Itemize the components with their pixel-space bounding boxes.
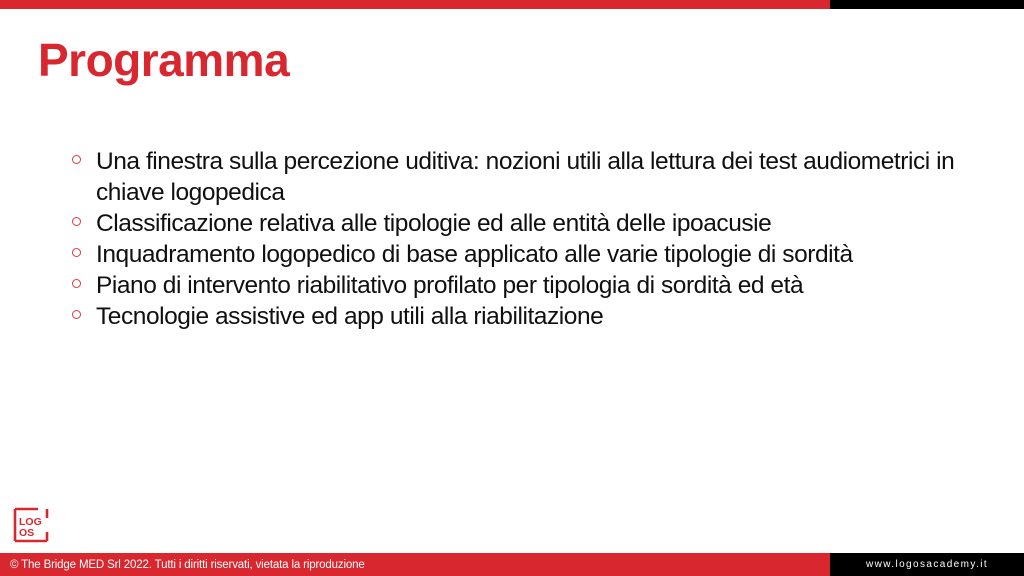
list-item-label: Tecnologie assistive ed app utili alla r… xyxy=(96,301,986,332)
list-item: Piano di intervento riabilitativo profil… xyxy=(72,270,992,301)
circle-outline-bullet-icon xyxy=(72,239,96,257)
circle-outline-bullet-icon xyxy=(72,146,96,164)
list-item-label: Piano di intervento riabilitativo profil… xyxy=(96,270,986,301)
top-accent-bar-black-segment xyxy=(830,0,1024,9)
presentation-slide: Programma Una finestra sulla percezione … xyxy=(0,0,1024,576)
footer-copyright-region: © The Bridge MED Srl 2022. Tutti i dirit… xyxy=(0,553,830,576)
list-item: Classificazione relativa alle tipologie … xyxy=(72,208,992,239)
list-item: Inquadramento logopedico di base applica… xyxy=(72,239,992,270)
footer-website-link[interactable]: www.logosacademy.it xyxy=(866,559,988,570)
circle-outline-bullet-icon xyxy=(72,270,96,288)
list-item: Tecnologie assistive ed app utili alla r… xyxy=(72,301,992,332)
footer-website-region: www.logosacademy.it xyxy=(830,553,1024,576)
list-item: Una finestra sulla percezione uditiva: n… xyxy=(72,146,992,208)
top-accent-bar-red-segment xyxy=(0,0,830,9)
logos-logo-icon: LOG OS xyxy=(12,506,50,544)
list-item-label: Classificazione relativa alle tipologie … xyxy=(96,208,986,239)
footer-bar: © The Bridge MED Srl 2022. Tutti i dirit… xyxy=(0,553,1024,576)
page-title: Programma xyxy=(38,36,289,84)
circle-outline-bullet-icon xyxy=(72,208,96,226)
program-bullet-list: Una finestra sulla percezione uditiva: n… xyxy=(72,146,992,332)
list-item-label: Inquadramento logopedico di base applica… xyxy=(96,239,986,270)
top-accent-bar xyxy=(0,0,1024,9)
footer-copyright-text: © The Bridge MED Srl 2022. Tutti i dirit… xyxy=(10,559,365,571)
logo-line-2: OS xyxy=(19,527,34,539)
list-item-label: Una finestra sulla percezione uditiva: n… xyxy=(96,146,986,208)
circle-outline-bullet-icon xyxy=(72,301,96,319)
